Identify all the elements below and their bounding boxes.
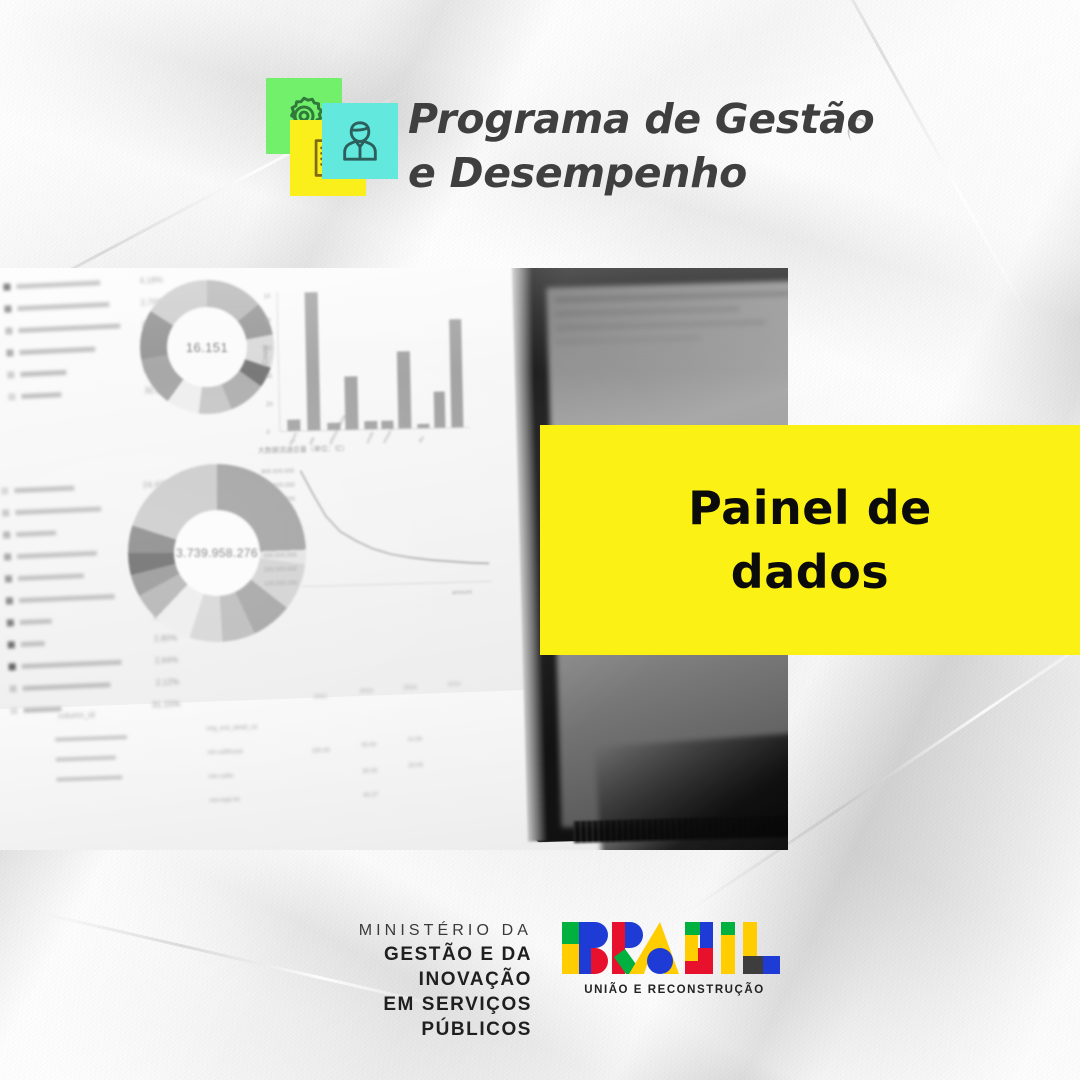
brasil-logo: UNIÃO E RECONSTRUÇÃO	[562, 922, 787, 996]
callout-banner: Painel de dados	[540, 425, 1080, 655]
ministry-line-1: MINISTÉRIO DA	[300, 920, 532, 942]
photo-shadow	[594, 729, 788, 850]
donut-center-value: 3.739.958.276	[176, 546, 258, 560]
ministry-wordmark: MINISTÉRIO DA GESTÃO E DA INOVAÇÃO EM SE…	[300, 920, 532, 1042]
donut-chart-top: 16.151	[140, 280, 274, 414]
ministry-line-3: EM SERVIÇOS PÚBLICOS	[300, 992, 532, 1042]
icon-cluster	[262, 78, 412, 196]
callout-line-1: Painel de	[688, 476, 932, 540]
data-table: column_id img_end_detail_cd mh-softfound…	[38, 680, 513, 846]
person-icon	[337, 118, 383, 164]
brasil-wordmark-icon	[562, 922, 787, 974]
list-item: 2,64%	[8, 652, 178, 674]
list-item: 32,3%	[8, 382, 169, 404]
page-title-line-1: Programa de Gestão	[408, 92, 928, 146]
page-title-line-2: e Desempenho	[408, 146, 928, 200]
callout-line-2: dados	[688, 540, 932, 604]
list-item: 2,80%	[7, 630, 177, 652]
donut-center-value: 16.151	[186, 340, 228, 355]
person-icon-tile	[322, 103, 398, 179]
line-chart-series	[298, 463, 491, 594]
page-title: Programa de Gestão e Desempenho	[408, 92, 928, 200]
footer: MINISTÉRIO DA GESTÃO E DA INOVAÇÃO EM SE…	[0, 900, 1080, 1040]
callout-text: Painel de dados	[688, 476, 932, 604]
list-item: 2,70%	[4, 294, 165, 316]
poster-canvas: Programa de Gestão e Desempenho 4,18% 2,…	[0, 0, 1080, 1080]
laptop-screen-content	[555, 290, 788, 353]
header: Programa de Gestão e Desempenho	[0, 0, 1080, 250]
ministry-line-2: GESTÃO E DA INOVAÇÃO	[300, 942, 532, 992]
brasil-tagline: UNIÃO E RECONSTRUÇÃO	[562, 984, 787, 996]
line-chart: 大数据流通总量（单位：亿） 900.000.000 800.000.000 70…	[298, 463, 491, 588]
bar-chart: Count 0 20 40 60 80 10 algum ade adesc	[277, 288, 470, 432]
